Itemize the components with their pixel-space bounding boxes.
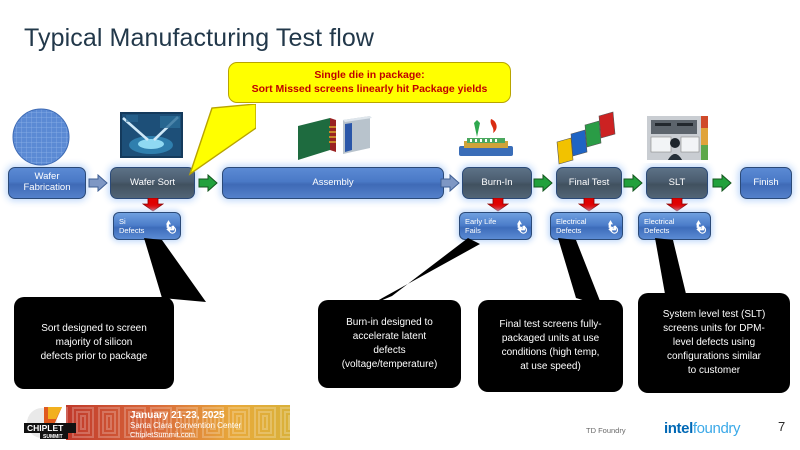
callout-final-test-line4: at use speed) xyxy=(486,360,615,374)
foundry-wordmark: foundry xyxy=(693,420,740,437)
callout-slt-line5: to customer xyxy=(646,364,782,378)
callout-final-test: Final test screens fully- packaged units… xyxy=(478,300,623,392)
defect-box-early-life-fails[interactable]: Early Life Fails xyxy=(459,212,532,240)
footer-department: TD Foundry xyxy=(586,426,626,435)
flow-step-slt-label: SLT xyxy=(669,178,686,189)
flow-step-wafer-sort[interactable]: Wafer Sort xyxy=(110,167,195,199)
page-number: 7 xyxy=(778,419,785,434)
callout-slt-line2: screens units for DPM- xyxy=(646,322,782,336)
banner-date: January 21-23, 2025 xyxy=(130,410,225,421)
callout-slt: System level test (SLT) screens units fo… xyxy=(638,293,790,393)
flow-step-final-test[interactable]: Final Test xyxy=(556,167,622,199)
callout-tail-sort xyxy=(110,238,206,302)
defect-box-electrical-defects-final[interactable]: Electrical Defects xyxy=(550,212,623,240)
defect-slt-line1: Electrical xyxy=(644,217,688,226)
down-arrow-icon xyxy=(487,198,509,212)
single-die-note-callout: Single die in package: Sort Missed scree… xyxy=(228,62,511,103)
flow-step-slt[interactable]: SLT xyxy=(646,167,708,199)
recycle-icon xyxy=(511,218,528,235)
defect-final-line1: Electrical xyxy=(556,217,600,226)
recycle-icon xyxy=(690,218,707,235)
callout-burn-in-line3: defects xyxy=(326,344,453,358)
callout-slt-line1: System level test (SLT) xyxy=(646,308,782,322)
callout-slt-line3: level defects using xyxy=(646,336,782,350)
intel-foundry-logo: intelfoundry xyxy=(664,420,740,437)
right-arrow-icon xyxy=(533,174,553,192)
callout-burn-in: Burn-in designed to accelerate latent de… xyxy=(318,300,461,388)
callout-sort-line1: Sort designed to screen xyxy=(22,322,166,336)
callout-final-test-line2: packaged units at use xyxy=(486,332,615,346)
defect-early-life-line1: Early Life xyxy=(465,217,509,226)
page-title: Typical Manufacturing Test flow xyxy=(24,24,374,53)
down-arrow-icon xyxy=(666,198,688,212)
recycle-icon xyxy=(160,218,177,235)
banner-venue: Santa Clara Convention Center xyxy=(130,421,242,430)
test-bins-icon xyxy=(555,108,617,165)
single-die-note-line2: Sort Missed screens linearly hit Package… xyxy=(235,82,504,96)
callout-slt-line4: configurations similar xyxy=(646,350,782,364)
chiplet-summit-banner: CHIPLET SUMMIT January 21-23, 2025 Santa… xyxy=(18,405,290,440)
flow-step-final-test-label: Final Test xyxy=(569,178,609,189)
callout-tail-final-test xyxy=(520,238,610,306)
recycle-icon xyxy=(602,218,619,235)
callout-burn-in-line1: Burn-in designed to xyxy=(326,316,453,330)
defect-si-line1: Si xyxy=(119,217,158,226)
flow-step-finish[interactable]: Finish xyxy=(740,167,792,199)
callout-final-test-line1: Final test screens fully- xyxy=(486,318,615,332)
intel-wordmark: intel xyxy=(664,420,693,437)
banner-website: ChipletSummit.com xyxy=(130,430,195,439)
banner-logo-chiplet: CHIPLET xyxy=(27,423,64,433)
down-arrow-icon xyxy=(578,198,600,212)
callout-sort: Sort designed to screen majority of sili… xyxy=(14,297,174,389)
test-rack-photo xyxy=(643,113,711,163)
right-arrow-icon xyxy=(198,174,218,192)
flow-step-finish-label: Finish xyxy=(753,178,778,189)
defect-box-electrical-defects-slt[interactable]: Electrical Defects xyxy=(638,212,711,240)
callout-burn-in-line2: accelerate latent xyxy=(326,330,453,344)
right-arrow-icon xyxy=(623,174,643,192)
defect-final-line2: Defects xyxy=(556,226,600,235)
flow-step-wafer-fabrication[interactable]: Wafer Fabrication xyxy=(8,167,86,199)
callout-sort-line2: majority of silicon xyxy=(22,336,166,350)
defect-early-life-line2: Fails xyxy=(465,226,509,235)
pcb-and-package-photo xyxy=(296,114,376,164)
right-arrow-icon xyxy=(440,174,460,192)
right-arrow-icon xyxy=(88,174,108,192)
callout-tail-burn-in xyxy=(360,238,480,306)
defect-box-si-defects[interactable]: Si Defects xyxy=(113,212,181,240)
defect-slt-line2: Defects xyxy=(644,226,688,235)
wafer-prober-photo xyxy=(120,112,183,158)
banner-logo-summit: SUMMIT xyxy=(43,434,63,440)
right-arrow-icon xyxy=(712,174,732,192)
yellow-callout-tail xyxy=(186,104,256,176)
down-arrow-icon xyxy=(142,198,164,212)
burn-in-board-icon xyxy=(455,113,517,165)
flow-step-wafer-sort-label: Wafer Sort xyxy=(130,178,175,189)
callout-tail-slt xyxy=(625,238,705,298)
flow-step-assembly-label: Assembly xyxy=(312,178,353,189)
flow-step-wafer-fabrication-label1: Wafer xyxy=(35,171,60,182)
callout-sort-line3: defects prior to package xyxy=(22,350,166,364)
silicon-wafer-icon xyxy=(12,108,70,166)
callout-final-test-line3: conditions (high temp, xyxy=(486,346,615,360)
callout-burn-in-line4: (voltage/temperature) xyxy=(326,358,453,372)
flow-step-wafer-fabrication-label2: Fabrication xyxy=(24,182,71,193)
defect-si-line2: Defects xyxy=(119,226,158,235)
flow-step-burn-in[interactable]: Burn-In xyxy=(462,167,532,199)
single-die-note-line1: Single die in package: xyxy=(235,68,504,82)
flow-step-burn-in-label: Burn-In xyxy=(481,178,512,189)
